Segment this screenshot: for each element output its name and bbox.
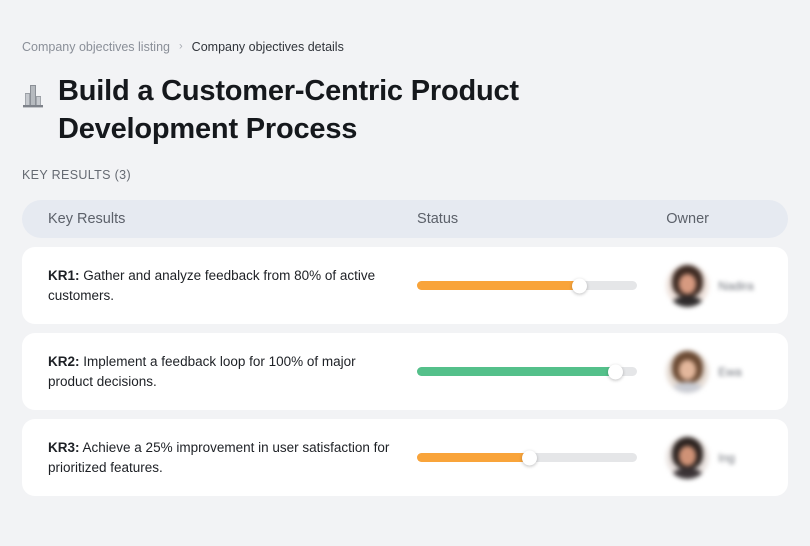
progress-slider-handle[interactable] <box>522 450 537 465</box>
status-cell <box>417 453 666 462</box>
key-result-description: KR3: Achieve a 25% improvement in user s… <box>48 438 417 478</box>
key-result-tag: KR1: <box>48 268 80 283</box>
key-result-cell: KR1: Gather and analyze feedback from 80… <box>48 266 417 306</box>
progress-slider[interactable] <box>417 281 637 290</box>
key-result-description: KR1: Gather and analyze feedback from 80… <box>48 266 417 306</box>
key-result-body: Implement a feedback loop for 100% of ma… <box>48 354 356 389</box>
breadcrumb-current: Company objectives details <box>192 38 344 56</box>
table-row[interactable]: KR1: Gather and analyze feedback from 80… <box>22 247 788 324</box>
owner-cell[interactable]: Nadira <box>666 264 788 307</box>
column-header-key-results: Key Results <box>48 211 417 227</box>
table-row[interactable]: KR3: Achieve a 25% improvement in user s… <box>22 419 788 496</box>
key-results-section-label: KEY RESULTS (3) <box>22 168 788 182</box>
page-header: Build a Customer-Centric Product Develop… <box>22 72 788 148</box>
owner-cell[interactable]: Ewa <box>666 350 788 393</box>
avatar <box>666 264 709 307</box>
key-result-tag: KR3: <box>48 440 80 455</box>
column-header-owner: Owner <box>666 211 788 227</box>
owner-name: Ing <box>718 451 735 465</box>
progress-slider-fill <box>417 367 615 376</box>
owner-name: Nadira <box>718 279 753 293</box>
progress-slider-fill <box>417 453 529 462</box>
progress-slider[interactable] <box>417 367 637 376</box>
chevron-right-icon: › <box>179 41 183 52</box>
progress-slider-handle[interactable] <box>572 278 587 293</box>
key-result-description: KR2: Implement a feedback loop for 100% … <box>48 352 417 392</box>
key-result-body: Gather and analyze feedback from 80% of … <box>48 268 375 303</box>
key-result-cell: KR2: Implement a feedback loop for 100% … <box>48 352 417 392</box>
office-building-icon <box>22 83 44 109</box>
breadcrumb: Company objectives listing › Company obj… <box>22 0 788 56</box>
avatar <box>666 436 709 479</box>
key-results-table: Key Results Status Owner KR1: Gather and… <box>22 200 788 496</box>
status-cell <box>417 281 666 290</box>
column-header-status: Status <box>417 211 666 227</box>
breadcrumb-parent-link[interactable]: Company objectives listing <box>22 38 170 56</box>
progress-slider-fill <box>417 281 580 290</box>
progress-slider-handle[interactable] <box>608 364 623 379</box>
progress-slider[interactable] <box>417 453 637 462</box>
key-result-body: Achieve a 25% improvement in user satisf… <box>48 440 389 475</box>
status-cell <box>417 367 666 376</box>
objective-details-page: Company objectives listing › Company obj… <box>0 0 810 546</box>
avatar <box>666 350 709 393</box>
table-row[interactable]: KR2: Implement a feedback loop for 100% … <box>22 333 788 410</box>
key-result-cell: KR3: Achieve a 25% improvement in user s… <box>48 438 417 478</box>
page-title: Build a Customer-Centric Product Develop… <box>58 72 698 148</box>
table-header-row: Key Results Status Owner <box>22 200 788 238</box>
owner-cell[interactable]: Ing <box>666 436 788 479</box>
owner-name: Ewa <box>718 365 741 379</box>
key-result-tag: KR2: <box>48 354 80 369</box>
